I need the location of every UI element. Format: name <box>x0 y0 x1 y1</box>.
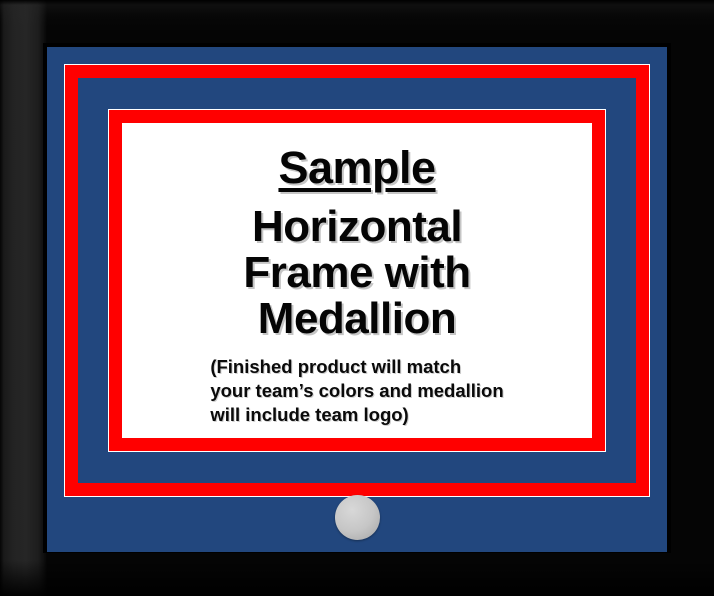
mat-band-blue-inner: Sample Horizontal Frame with Medallion (… <box>78 78 636 483</box>
mat-accent-line-white-inner: Sample Horizontal Frame with Medallion (… <box>108 109 606 452</box>
blank-medallion-disc <box>335 495 380 540</box>
title-line-medallion: Medallion <box>258 296 456 342</box>
title-line-horizontal: Horizontal <box>252 204 462 250</box>
mat-outer-blue: Sample Horizontal Frame with Medallion (… <box>47 47 667 552</box>
certificate-print-area: Sample Horizontal Frame with Medallion (… <box>122 123 592 438</box>
disclaimer-line-1: (Finished product will match <box>210 355 503 379</box>
framed-certificate-preview: Sample Horizontal Frame with Medallion (… <box>0 0 714 596</box>
mat-band-red-outer: Sample Horizontal Frame with Medallion (… <box>65 65 649 496</box>
disclaimer-line-2: your team’s colors and medallion <box>210 379 503 403</box>
title-line-frame-with: Frame with <box>243 250 470 296</box>
mat-accent-line-white-outer: Sample Horizontal Frame with Medallion (… <box>64 64 650 497</box>
disclaimer-line-3: will include team logo) <box>210 403 503 427</box>
sample-heading: Sample <box>278 145 435 190</box>
product-disclaimer-note: (Finished product will match your team’s… <box>210 355 503 426</box>
mat-band-red-inner: Sample Horizontal Frame with Medallion (… <box>109 110 605 451</box>
